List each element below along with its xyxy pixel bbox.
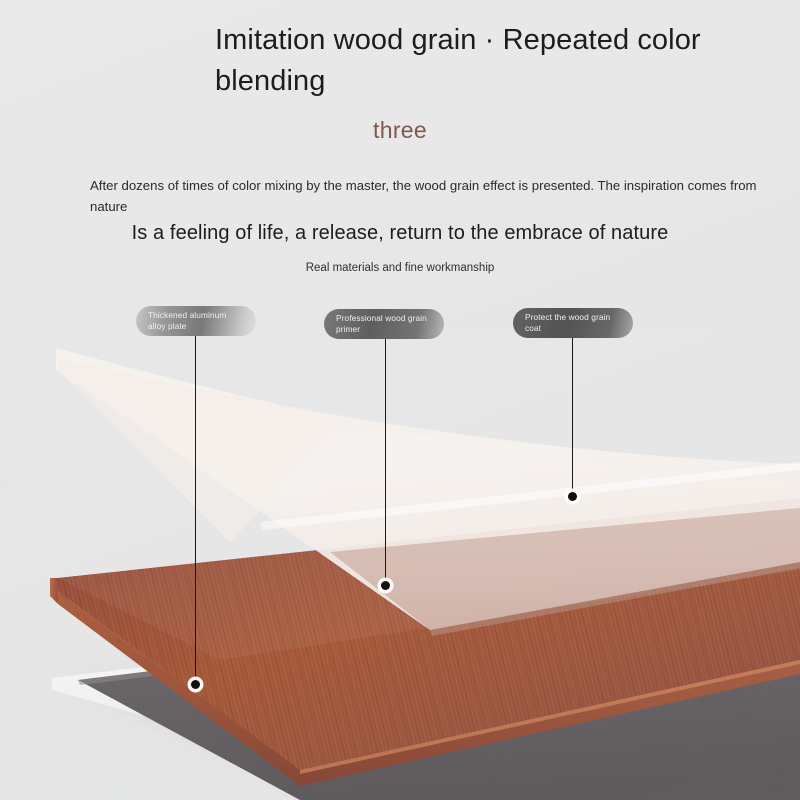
layer-stack-illustration [0, 330, 800, 800]
callout-label-wood-grain-primer: Professional wood grain primer [324, 309, 444, 339]
marker-dot-wood-grain-coat [568, 492, 577, 501]
leader-line-wood-grain-coat [572, 338, 573, 496]
leader-line-aluminum-plate [195, 336, 196, 684]
page-title: Imitation wood grain · Repeated color bl… [215, 20, 725, 102]
description-paragraph: After dozens of times of color mixing by… [90, 175, 770, 218]
marker-dot-wood-grain-primer [381, 581, 390, 590]
leader-line-wood-grain-primer [385, 339, 386, 585]
callout-label-wood-grain-coat: Protect the wood grain coat [513, 308, 633, 338]
section-subtitle: three [0, 117, 800, 144]
workmanship-caption: Real materials and fine workmanship [0, 262, 800, 274]
marker-dot-aluminum-plate [191, 680, 200, 689]
product-feature-page: Imitation wood grain · Repeated color bl… [0, 0, 800, 800]
callout-label-aluminum-plate: Thickened aluminum alloy plate [136, 306, 256, 336]
tagline-text: Is a feeling of life, a release, return … [0, 222, 800, 245]
